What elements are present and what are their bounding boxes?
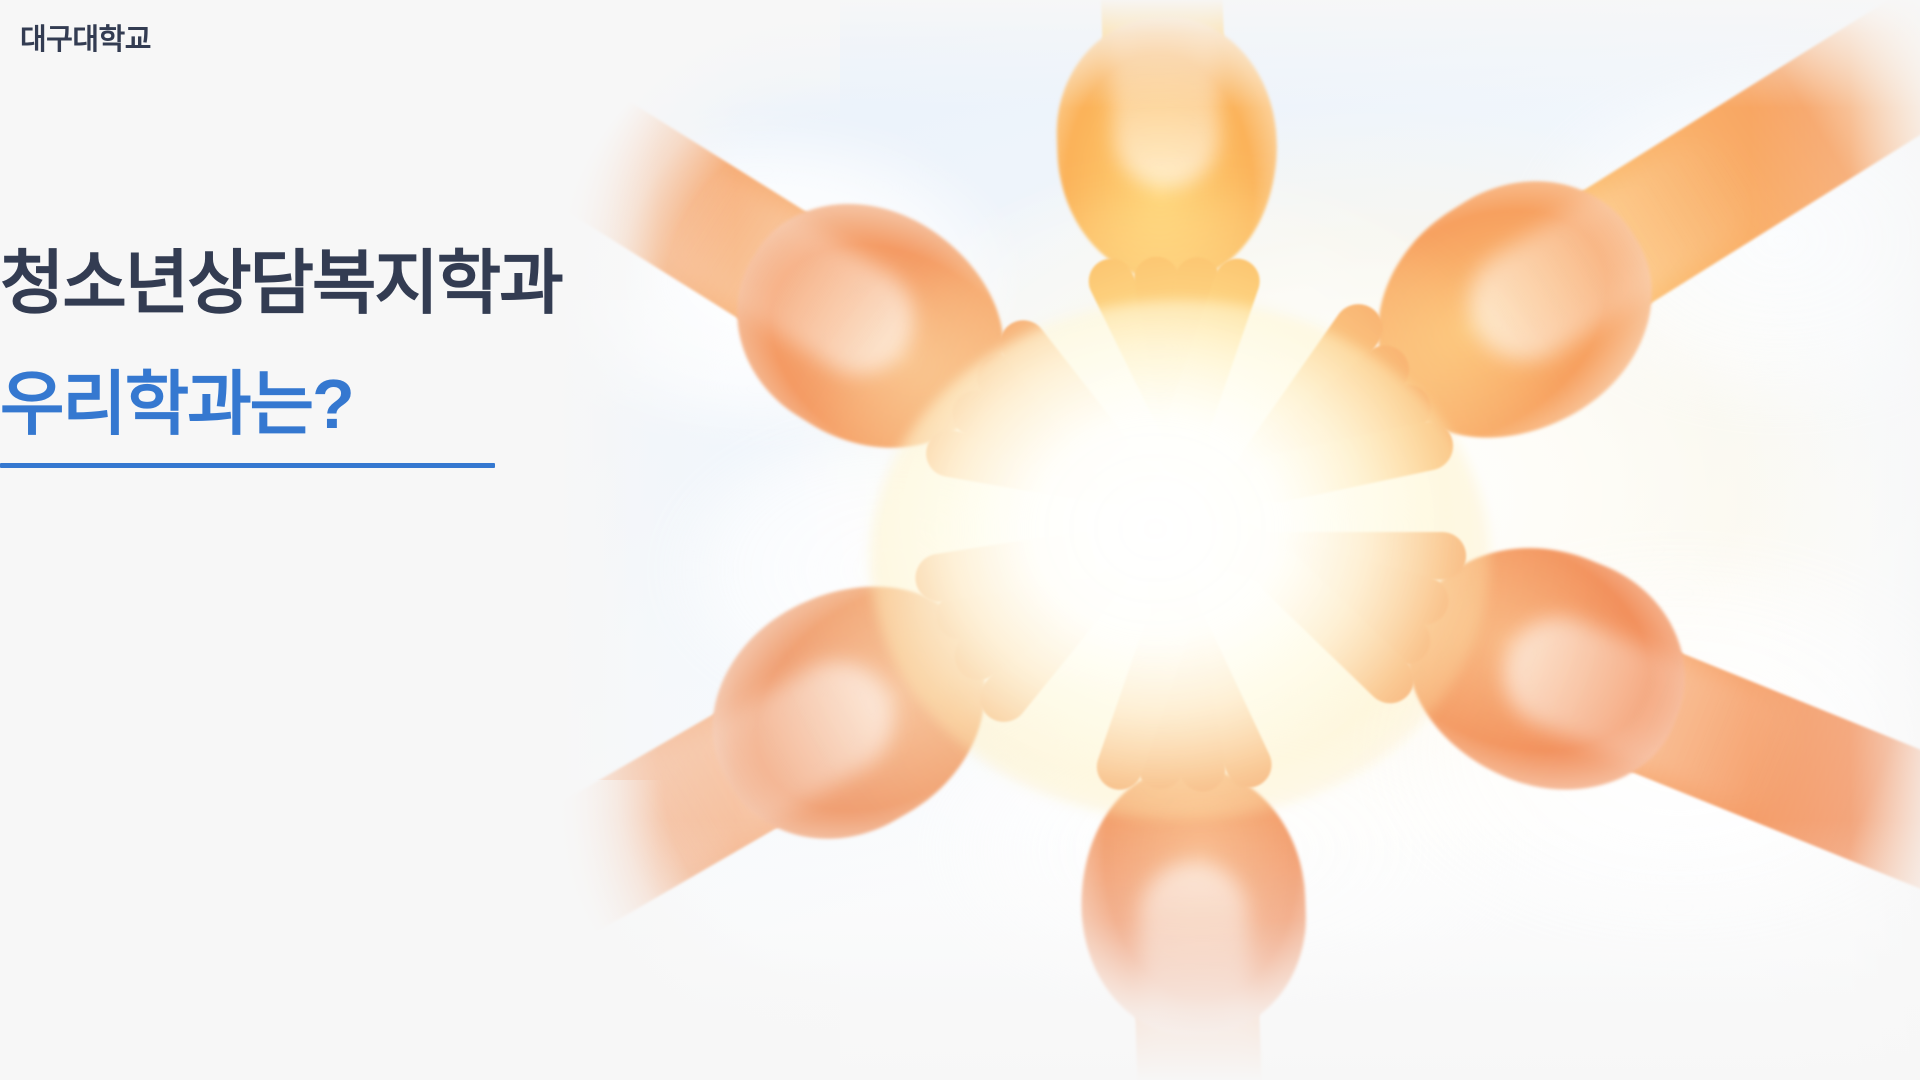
hero-photo <box>540 0 1920 1080</box>
department-title: 청소년상담복지학과 <box>0 246 562 320</box>
headings-block: 청소년상담복지학과 우리학과는? <box>0 246 562 468</box>
section-question-title: 우리학과는? <box>0 367 562 441</box>
hand-palm <box>1053 14 1282 284</box>
university-logo: 대구대학교 <box>20 16 151 58</box>
slide-root: 대구대학교 청소년상담복지학과 우리학과는? <box>0 0 1920 1080</box>
hand-palm <box>1077 764 1310 1040</box>
title-underline-rule <box>0 463 495 468</box>
photo-sky-background <box>540 0 1920 1080</box>
